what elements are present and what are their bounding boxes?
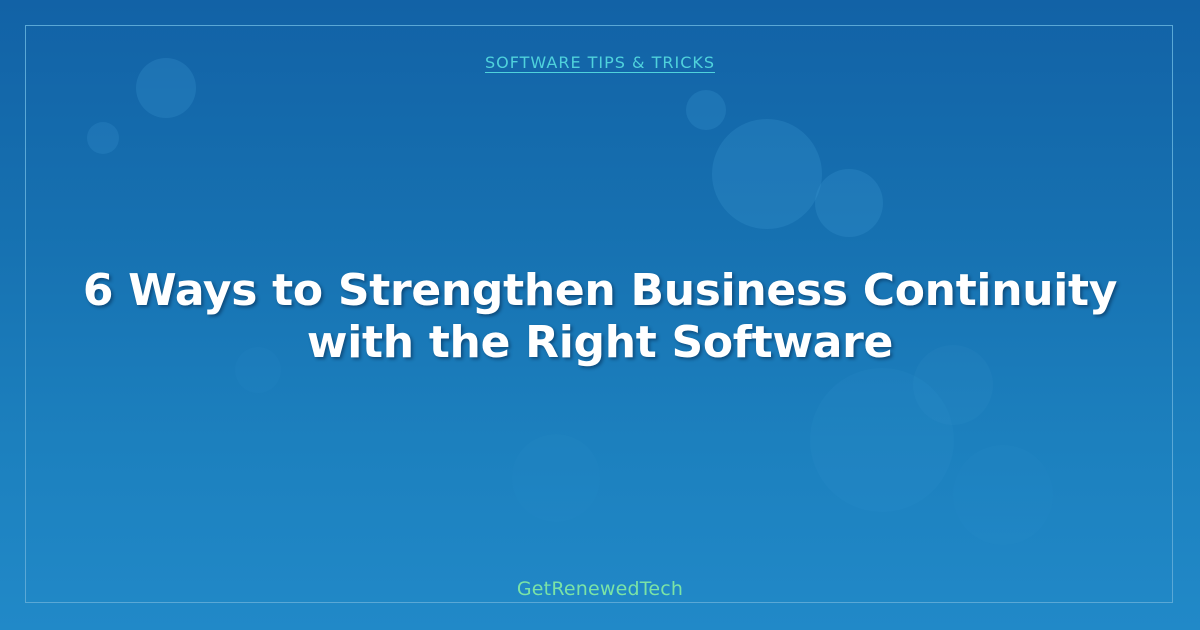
- page-title: 6 Ways to Strengthen Business Continuity…: [80, 265, 1120, 369]
- category-eyebrow-label[interactable]: SOFTWARE TIPS & TRICKS: [0, 53, 1200, 72]
- banner-content: SOFTWARE TIPS & TRICKS 6 Ways to Strengt…: [0, 0, 1200, 630]
- title-block: 6 Ways to Strengthen Business Continuity…: [0, 265, 1200, 369]
- brand-footer-label: GetRenewedTech: [0, 578, 1200, 600]
- blog-banner-card: SOFTWARE TIPS & TRICKS 6 Ways to Strengt…: [0, 0, 1200, 630]
